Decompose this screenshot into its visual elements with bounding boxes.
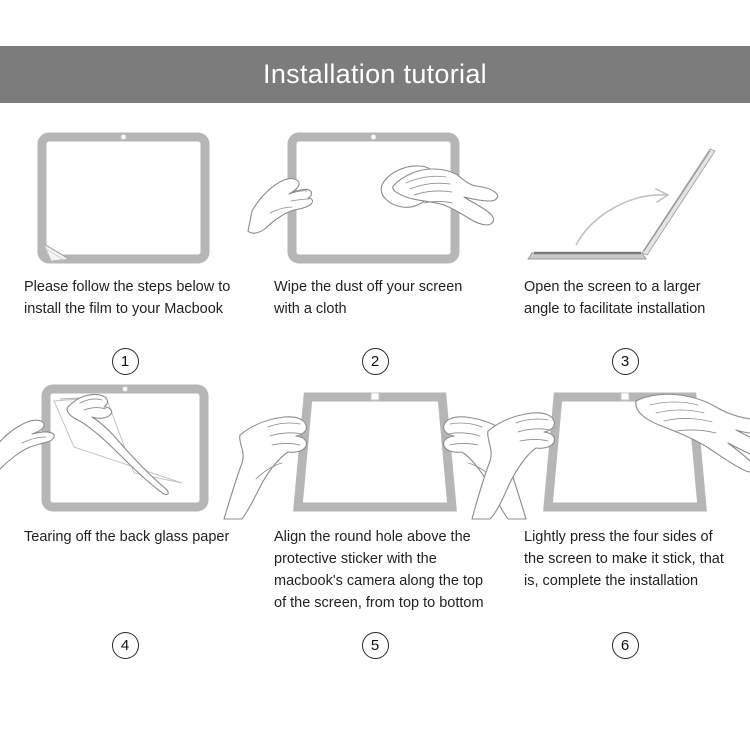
step-number-badge: 1 — [112, 348, 139, 375]
step-card-3: Open the screen to a larger angle to fac… — [500, 125, 750, 375]
step-badge-wrap: 2 — [264, 346, 486, 375]
camera-hole-icon — [621, 393, 629, 400]
page-title: Installation tutorial — [263, 61, 487, 88]
step-caption: Open the screen to a larger angle to fac… — [514, 276, 736, 346]
step-badge-wrap: 5 — [264, 626, 486, 659]
illustration-hand-wiping-screen-with-cloth — [264, 125, 486, 270]
illustration-hand-pressing-screen-flat — [514, 375, 736, 520]
illustration-screen-with-peeling-film-corner — [14, 125, 236, 270]
step-number-badge: 4 — [112, 632, 139, 659]
step-card-5: Align the round hole above the protectiv… — [250, 375, 500, 659]
step-card-1: Please follow the steps below to install… — [0, 125, 250, 375]
film-sheet — [298, 397, 452, 507]
step-number-badge: 6 — [612, 632, 639, 659]
right-hand-icon — [67, 394, 168, 494]
camera-hole-icon — [371, 393, 379, 400]
step-caption: Please follow the steps below to install… — [14, 276, 236, 346]
left-hand-icon — [248, 179, 312, 234]
header-banner: Installation tutorial — [0, 46, 750, 103]
step-card-2: Wipe the dust off your screen with a clo… — [250, 125, 500, 375]
illustration-hands-peeling-back-paper — [14, 375, 236, 520]
step-number-badge: 5 — [362, 632, 389, 659]
step-badge-wrap: 1 — [14, 346, 236, 375]
step-caption: Wipe the dust off your screen with a clo… — [264, 276, 486, 346]
steps-grid: Please follow the steps below to install… — [0, 125, 750, 659]
step-badge-wrap: 6 — [514, 626, 736, 659]
step-caption: Tearing off the back glass paper — [14, 526, 236, 626]
step-card-4: Tearing off the back glass paper 4 — [0, 375, 250, 659]
screen-bezel — [42, 137, 205, 259]
camera-icon — [121, 134, 126, 139]
right-hand-icon — [393, 169, 498, 225]
laptop-lid — [642, 149, 715, 255]
step-card-6: Lightly press the four sides of the scre… — [500, 375, 750, 659]
step-number-badge: 3 — [612, 348, 639, 375]
step-caption: Lightly press the four sides of the scre… — [514, 526, 736, 626]
step-caption: Align the round hole above the protectiv… — [264, 526, 486, 626]
step-badge-wrap: 3 — [514, 346, 736, 375]
step-badge-wrap: 4 — [14, 626, 236, 659]
camera-icon — [122, 386, 127, 391]
laptop-base — [528, 253, 646, 259]
illustration-laptop-side-profile-opening-arrow — [514, 125, 736, 270]
step-number-badge: 2 — [362, 348, 389, 375]
illustration-two-hands-aligning-film — [264, 375, 486, 520]
camera-icon — [371, 134, 376, 139]
